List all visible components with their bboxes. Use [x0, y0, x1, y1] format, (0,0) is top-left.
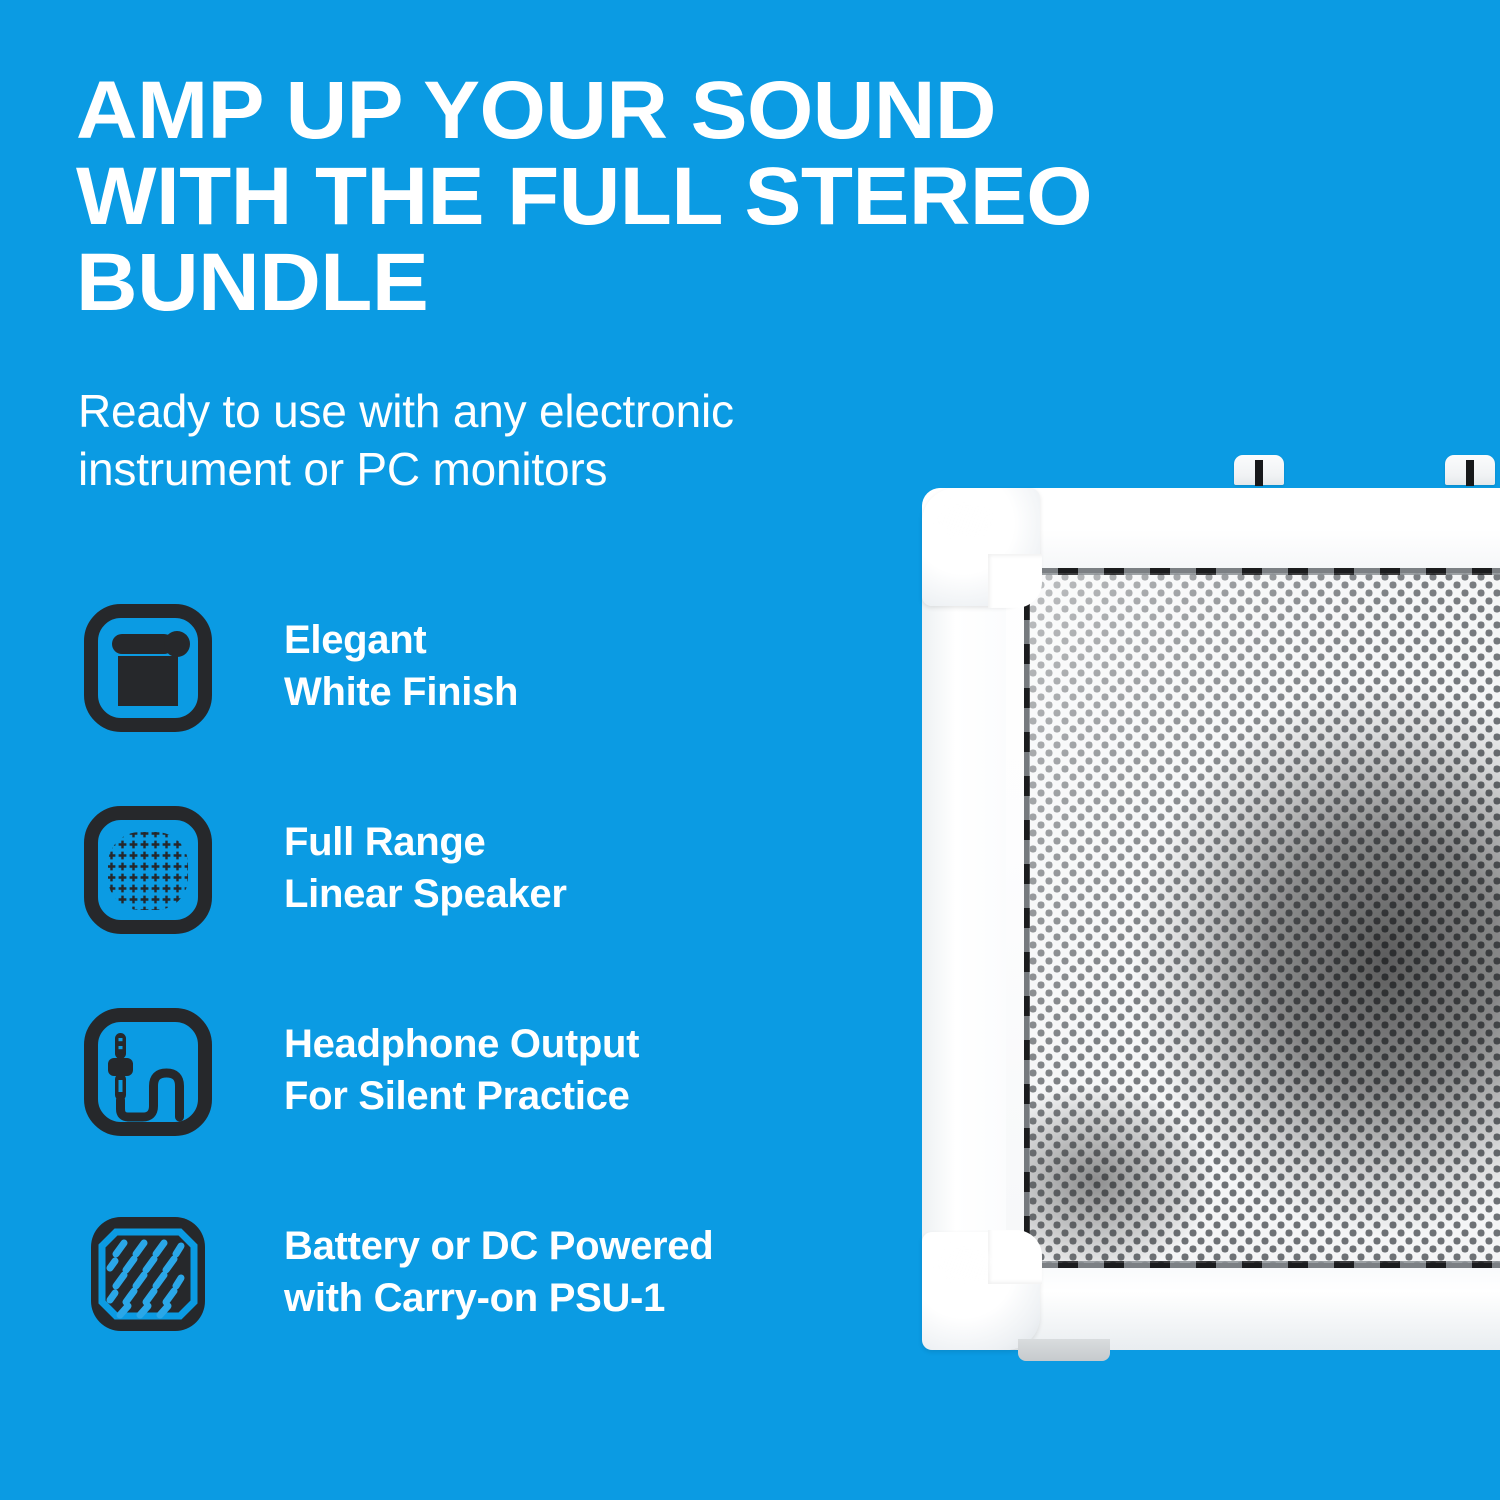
feature-label-2: Full Range Linear Speaker	[284, 816, 567, 920]
feature-label-4: Battery or DC Powered with Carry-on PSU-…	[284, 1220, 713, 1324]
feature-list: Elegant White Finish	[84, 604, 844, 1412]
headline-line-1: AMP UP YOUR SOUND	[76, 68, 1241, 154]
speaker-grille-icon	[84, 806, 212, 934]
feature-label-4-line-2: with Carry-on PSU-1	[284, 1272, 713, 1324]
battery-texture-icon	[84, 1210, 212, 1338]
grille-clip-strip-bottom	[1032, 1261, 1500, 1268]
subheadline-line-2: instrument or PC monitors	[78, 440, 978, 498]
feature-item-battery-or-dc-powered: Battery or DC Powered with Carry-on PSU-…	[84, 1210, 844, 1412]
feature-label-2-line-1: Full Range	[284, 816, 567, 868]
feature-item-full-range-linear-speaker: Full Range Linear Speaker	[84, 806, 844, 1008]
headline-line-3: BUNDLE	[76, 240, 1241, 326]
promo-banner: AMP UP YOUR SOUND WITH THE FULL STEREO B…	[0, 0, 1500, 1500]
cabinet-left-rail	[922, 515, 1006, 1325]
feature-label-1-line-1: Elegant	[284, 614, 518, 666]
page-subtitle: Ready to use with any electronic instrum…	[78, 382, 978, 498]
corner-bumper-top-left	[922, 488, 1040, 606]
feature-label-1: Elegant White Finish	[284, 614, 518, 718]
feature-item-elegant-white-finish: Elegant White Finish	[84, 604, 844, 806]
bumper-gloss-highlight	[936, 1244, 994, 1284]
volume-knob-right	[1445, 455, 1495, 485]
feature-label-3-line-2: For Silent Practice	[284, 1070, 639, 1122]
product-image-white-amplifier	[900, 455, 1500, 1395]
grille-bezel	[1024, 568, 1500, 1268]
subheadline-line-1: Ready to use with any electronic	[78, 382, 978, 440]
headline-line-2: WITH THE FULL STEREO	[76, 154, 1241, 240]
perforated-speaker-grille	[1029, 573, 1500, 1263]
feature-label-1-line-2: White Finish	[284, 666, 518, 718]
grille-clip-strip-left	[1024, 576, 1030, 1260]
feature-item-headphone-output: Headphone Output For Silent Practice	[84, 1008, 844, 1210]
feature-label-2-line-2: Linear Speaker	[284, 868, 567, 920]
corner-bumper-bottom-left	[922, 1232, 1040, 1350]
rubber-foot	[1018, 1339, 1110, 1361]
page-title: AMP UP YOUR SOUND WITH THE FULL STEREO B…	[76, 68, 1241, 326]
bumper-gloss-highlight	[936, 500, 994, 540]
feature-label-3-line-1: Headphone Output	[284, 1018, 639, 1070]
grille-cone-shadow	[1029, 573, 1500, 1263]
paint-roller-icon	[84, 604, 212, 732]
volume-knob-left	[1234, 455, 1284, 485]
feature-label-4-line-1: Battery or DC Powered	[284, 1220, 713, 1272]
grille-clip-strip-top	[1032, 568, 1500, 575]
headphone-jack-icon	[84, 1008, 212, 1136]
feature-label-3: Headphone Output For Silent Practice	[284, 1018, 639, 1122]
